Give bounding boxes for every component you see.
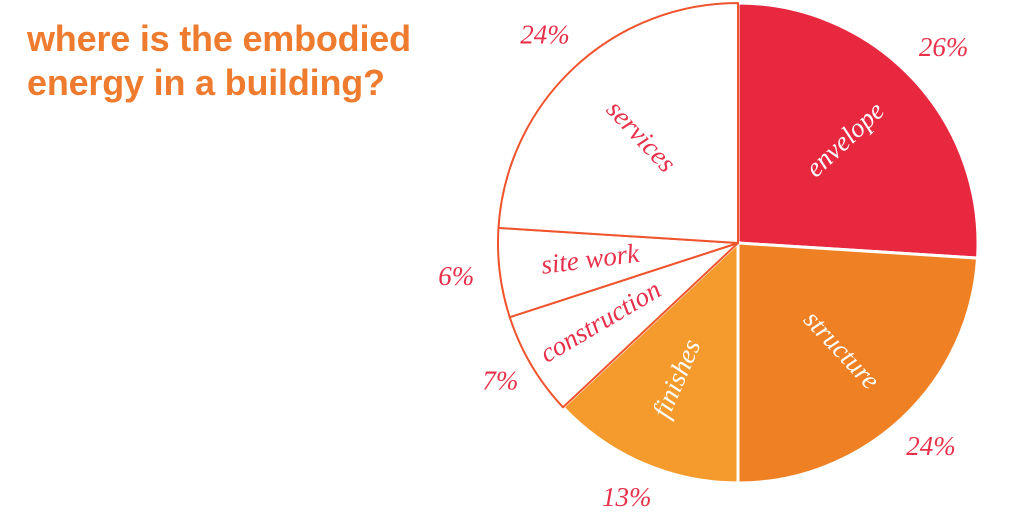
percent-label-services: 24%: [520, 20, 570, 50]
percent-label-site-work: 6%: [438, 261, 474, 291]
percent-label-finishes: 13%: [602, 482, 652, 512]
percent-label-structure: 24%: [906, 431, 956, 461]
slide-canvas: where is the embodied energy in a buildi…: [0, 0, 1024, 529]
pie-chart-svg: envelopestructurefinishesconstructionsit…: [0, 0, 1024, 529]
pie-slices-group: [498, 3, 978, 483]
percent-label-construction: 7%: [482, 366, 518, 396]
percent-label-envelope: 26%: [919, 32, 969, 62]
pie-chart: envelopestructurefinishesconstructionsit…: [0, 0, 1024, 529]
